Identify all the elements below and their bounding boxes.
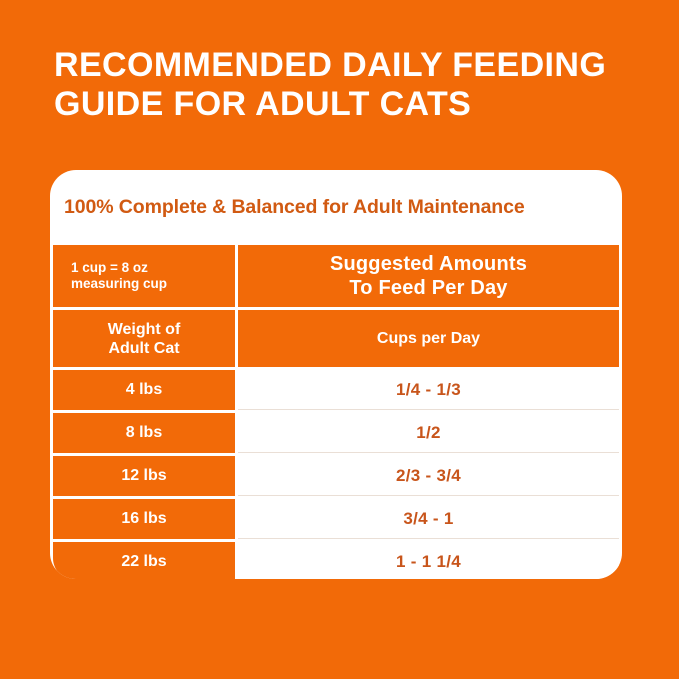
cups-value: 2/3 - 3/4 bbox=[396, 466, 461, 485]
suggested-amounts-line-2: To Feed Per Day bbox=[349, 277, 507, 299]
cups-value: 3/4 - 1 bbox=[403, 509, 453, 528]
table-row: 4 lbs 1/4 - 1/3 bbox=[53, 370, 619, 410]
cell-weight: 8 lbs bbox=[53, 413, 235, 453]
cell-cups: 2/3 - 3/4 bbox=[238, 456, 619, 496]
column-header-weight: Weight of Adult Cat bbox=[53, 310, 235, 367]
claim-text: 100% Complete & Balanced for Adult Maint… bbox=[64, 196, 525, 219]
table-header-row-top: 1 cup = 8 oz measuring cup Suggested Amo… bbox=[53, 245, 619, 307]
table-row: 8 lbs 1/2 bbox=[53, 413, 619, 453]
feeding-guide-card: 100% Complete & Balanced for Adult Maint… bbox=[50, 170, 622, 579]
cell-weight: 4 lbs bbox=[53, 370, 235, 410]
table-row: 22 lbs 1 - 1 1/4 bbox=[53, 542, 619, 579]
cups-value: 1 - 1 1/4 bbox=[396, 552, 461, 571]
page-title: RECOMMENDED DAILY FEEDING GUIDE FOR ADUL… bbox=[54, 46, 644, 124]
column-header-cups: Cups per Day bbox=[238, 310, 619, 367]
column-header-cups-label: Cups per Day bbox=[377, 330, 480, 347]
cell-weight: 22 lbs bbox=[53, 542, 235, 579]
measuring-cup-note-line-2: measuring cup bbox=[71, 276, 167, 291]
suggested-amounts-heading-cell: Suggested Amounts To Feed Per Day bbox=[238, 245, 619, 307]
cell-cups: 1/4 - 1/3 bbox=[238, 370, 619, 410]
column-header-weight-line-1: Weight of bbox=[108, 321, 181, 338]
measuring-cup-note-cell: 1 cup = 8 oz measuring cup bbox=[53, 245, 235, 307]
cell-cups: 1/2 bbox=[238, 413, 619, 453]
cups-value: 1/4 - 1/3 bbox=[396, 380, 461, 399]
suggested-amounts-line-1: Suggested Amounts bbox=[330, 253, 527, 275]
page-title-line-2: GUIDE FOR ADULT CATS bbox=[54, 85, 644, 124]
weight-value: 22 lbs bbox=[121, 553, 166, 570]
cups-value: 1/2 bbox=[416, 423, 441, 442]
weight-value: 8 lbs bbox=[126, 424, 162, 441]
claim-row: 100% Complete & Balanced for Adult Maint… bbox=[50, 170, 622, 245]
table-header-row-columns: Weight of Adult Cat Cups per Day bbox=[53, 310, 619, 367]
cell-cups: 1 - 1 1/4 bbox=[238, 542, 619, 579]
table-row: 12 lbs 2/3 - 3/4 bbox=[53, 456, 619, 496]
measuring-cup-note-line-1: 1 cup = 8 oz bbox=[71, 260, 148, 275]
feeding-table: 1 cup = 8 oz measuring cup Suggested Amo… bbox=[50, 242, 622, 579]
column-header-weight-line-2: Adult Cat bbox=[108, 340, 179, 357]
cell-weight: 12 lbs bbox=[53, 456, 235, 496]
cell-weight: 16 lbs bbox=[53, 499, 235, 539]
table-row: 16 lbs 3/4 - 1 bbox=[53, 499, 619, 539]
weight-value: 12 lbs bbox=[121, 467, 166, 484]
weight-value: 4 lbs bbox=[126, 381, 162, 398]
page-title-line-1: RECOMMENDED DAILY FEEDING bbox=[54, 46, 644, 85]
weight-value: 16 lbs bbox=[121, 510, 166, 527]
cell-cups: 3/4 - 1 bbox=[238, 499, 619, 539]
